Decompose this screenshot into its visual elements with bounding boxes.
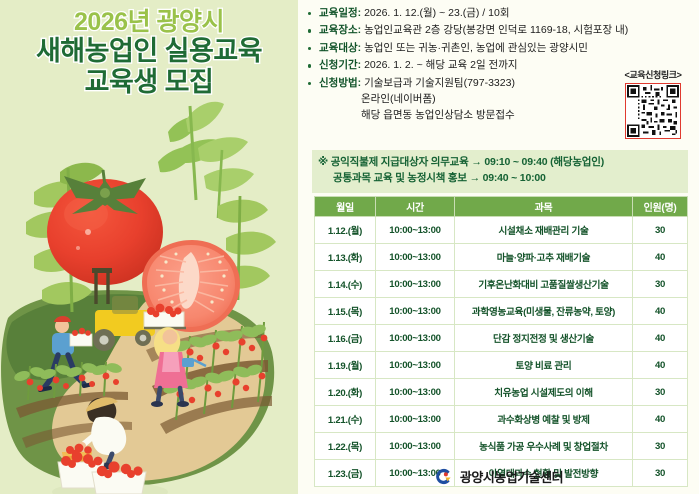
info-label: 교육장소: — [319, 24, 361, 36]
qr-caption: <교육신청링크> — [616, 68, 690, 81]
cell-subject: 토양 비료 관리 — [455, 352, 633, 379]
cell-time: 10:00~13:00 — [376, 271, 455, 298]
cell-count: 40 — [633, 244, 688, 271]
footer-organization: 광양시농업기술센터 — [298, 467, 699, 486]
cell-count: 40 — [633, 298, 688, 325]
table-row: 1.21.(수) 10:00~13:00 과수화상병 예찰 및 방제 40 — [315, 406, 688, 433]
info-label: 교육대상: — [319, 42, 361, 54]
info-label: 신청방법: — [319, 77, 361, 89]
cell-date: 1.22.(목) — [315, 433, 376, 460]
table-row: 1.15.(목) 10:00~13:00 과학영농교육(미생물, 잔류농약, 토… — [315, 298, 688, 325]
cell-time: 10:00~13:00 — [376, 352, 455, 379]
cell-subject: 농식품 가공 우수사례 및 창업절차 — [455, 433, 633, 460]
info-value: 2026. 1. 12.(월) ~ 23.(금) / 10회 — [364, 7, 509, 19]
table-row: 1.20.(화) 10:00~13:00 치유농업 시설제도의 이해 30 — [315, 379, 688, 406]
table-row: 1.14.(수) 10:00~13:00 기후온난화대비 고품질쌀생산기술 30 — [315, 271, 688, 298]
poster-title: 2026년 광양시 새해농업인 실용교육 교육생 모집 — [0, 8, 298, 97]
cell-count: 40 — [633, 406, 688, 433]
cell-time: 10:00~13:00 — [376, 298, 455, 325]
cell-count: 30 — [633, 433, 688, 460]
cell-time: 10:00~13:00 — [376, 406, 455, 433]
table-row: 1.12.(월) 10:00~13:00 시설채소 재배관리 기술 30 — [315, 217, 688, 244]
info-item-location: 교육장소: 농업인교육관 2층 강당(봉강면 인덕로 1169-18, 시험포장… — [306, 23, 698, 38]
header-time: 시간 — [376, 197, 455, 217]
cell-date: 1.14.(수) — [315, 271, 376, 298]
table-row: 1.16.(금) 10:00~13:00 단감 정지전정 및 생산기술 40 — [315, 325, 688, 352]
mandatory-education-notice: ※ 공익직불제 지급대상자 의무교육 → 09:10 ~ 09:40 (해당농업… — [312, 150, 688, 193]
government-symbol-icon — [434, 467, 453, 486]
schedule-table: 월일 시간 과목 인원(명) 1.12.(월) 10:00~13:00 시설채소… — [314, 196, 688, 487]
application-method-sublines: 온라인(네이버폼) 해당 읍면동 농업인상담소 방문접수 — [306, 92, 626, 124]
info-value: 기술보급과 기술지원팀(797-3323) — [364, 77, 515, 89]
right-content-panel: 교육일정: 2026. 1. 12.(월) ~ 23.(금) / 10회 교육장… — [298, 0, 699, 494]
cell-time: 10:00~13:00 — [376, 244, 455, 271]
cell-date: 1.19.(월) — [315, 352, 376, 379]
info-value: 농업인 또는 귀농·귀촌인, 농업에 관심있는 광양시민 — [364, 42, 588, 54]
cell-date: 1.21.(수) — [315, 406, 376, 433]
header-subject: 과목 — [455, 197, 633, 217]
cell-subject: 시설채소 재배관리 기술 — [455, 217, 633, 244]
cell-date: 1.20.(화) — [315, 379, 376, 406]
info-label: 신청기간: — [319, 59, 361, 71]
subline-visit: 해당 읍면동 농업인상담소 방문접수 — [306, 108, 626, 123]
cell-subject: 단감 정지전정 및 생산기술 — [455, 325, 633, 352]
cell-time: 10:00~13:00 — [376, 433, 455, 460]
schedule-table-wrapper: 월일 시간 과목 인원(명) 1.12.(월) 10:00~13:00 시설채소… — [314, 196, 688, 487]
cell-subject: 과수화상병 예찰 및 방제 — [455, 406, 633, 433]
header-count: 인원(명) — [633, 197, 688, 217]
title-line-1: 2026년 광양시 — [0, 8, 298, 36]
title-line-3: 교육생 모집 — [0, 67, 298, 98]
cell-subject: 기후온난화대비 고품질쌀생산기술 — [455, 271, 633, 298]
table-row: 1.19.(월) 10:00~13:00 토양 비료 관리 40 — [315, 352, 688, 379]
subline-online: 온라인(네이버폼) — [306, 92, 626, 107]
cell-time: 10:00~13:00 — [376, 379, 455, 406]
cell-date: 1.15.(목) — [315, 298, 376, 325]
cell-count: 30 — [633, 271, 688, 298]
table-row: 1.22.(목) 10:00~13:00 농식품 가공 우수사례 및 창업절차 … — [315, 433, 688, 460]
notice-line-1: ※ 공익직불제 지급대상자 의무교육 → 09:10 ~ 09:40 (해당농업… — [318, 155, 682, 171]
cell-time: 10:00~13:00 — [376, 325, 455, 352]
table-row: 1.13.(화) 10:00~13:00 마늘·양파·고추 재배기술 40 — [315, 244, 688, 271]
cell-count: 40 — [633, 352, 688, 379]
cell-count: 40 — [633, 325, 688, 352]
info-value: 농업인교육관 2층 강당(봉강면 인덕로 1169-18, 시험포장 내) — [364, 24, 628, 36]
left-illustration-panel: 2026년 광양시 새해농업인 실용교육 교육생 모집 — [0, 0, 298, 494]
cell-count: 30 — [633, 217, 688, 244]
cell-subject: 치유농업 시설제도의 이해 — [455, 379, 633, 406]
header-date: 월일 — [315, 197, 376, 217]
cell-date: 1.13.(화) — [315, 244, 376, 271]
cell-count: 30 — [633, 379, 688, 406]
title-line-2: 새해농업인 실용교육 — [0, 36, 298, 67]
notice-line-2: 공통과목 교육 및 농정시책 홍보 → 09:40 ~ 10:00 — [318, 171, 682, 187]
info-item-schedule: 교육일정: 2026. 1. 12.(월) ~ 23.(금) / 10회 — [306, 6, 698, 21]
qr-code-icon[interactable] — [627, 85, 679, 137]
footer-organization-name: 광양시농업기술센터 — [460, 467, 563, 486]
poster-root: 2026년 광양시 새해농업인 실용교육 교육생 모집 교육일정: 2026. … — [0, 0, 699, 494]
cell-subject: 과학영농교육(미생물, 잔류농약, 토양) — [455, 298, 633, 325]
cell-date: 1.12.(월) — [315, 217, 376, 244]
table-header-row: 월일 시간 과목 인원(명) — [315, 197, 688, 217]
cell-subject: 마늘·양파·고추 재배기술 — [455, 244, 633, 271]
qr-frame[interactable] — [625, 83, 681, 139]
cell-time: 10:00~13:00 — [376, 217, 455, 244]
info-value: 2026. 1. 2. ~ 해당 교육 2일 전까지 — [364, 59, 517, 71]
info-label: 교육일정: — [319, 7, 361, 19]
cell-date: 1.16.(금) — [315, 325, 376, 352]
info-item-target: 교육대상: 농업인 또는 귀농·귀촌인, 농업에 관심있는 광양시민 — [306, 41, 698, 56]
qr-application-link[interactable]: <교육신청링크> — [616, 68, 690, 139]
